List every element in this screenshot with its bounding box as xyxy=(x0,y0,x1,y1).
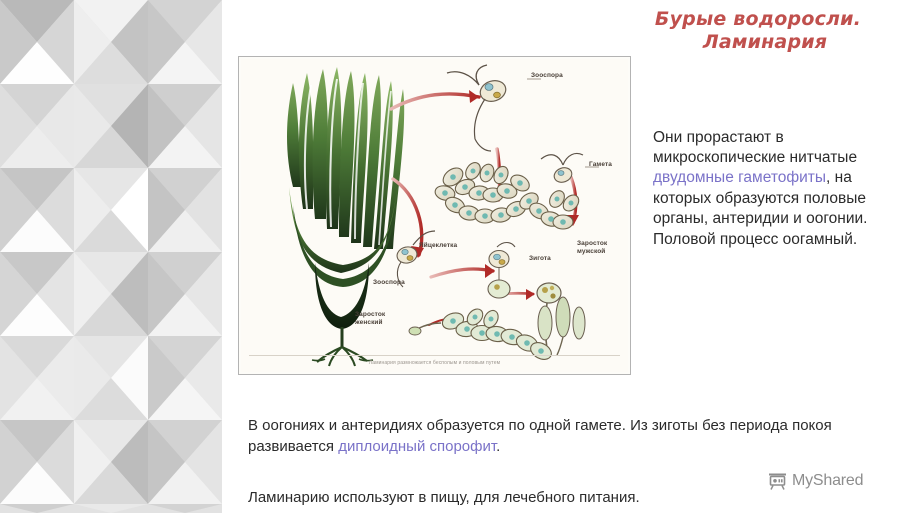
figure-label-female-gametophyte-line-1: Заросток xyxy=(355,311,385,318)
projector-icon xyxy=(768,473,787,490)
bottom-paragraph-1-highlight: диплоидный спорофит xyxy=(338,438,496,455)
figure-label-egg-cell: Яйцеклетка xyxy=(419,242,457,250)
slide-title: Бурые водоросли. Ламинария xyxy=(612,8,904,54)
figure-label-zoospore-top: Зооспора xyxy=(531,72,563,80)
figure-label-male-gametophyte-line-2: мужской xyxy=(577,248,605,255)
right-body-paragraph: Они прорастают в микроскопические нитчат… xyxy=(653,128,905,251)
figure-label-gamete: Гамета xyxy=(589,161,612,169)
right-paragraph-part-1: Они прорастают в микроскопические нитчат… xyxy=(653,129,857,166)
bottom-paragraph-1-part-2: . xyxy=(496,438,500,455)
figure-label-male-gametophyte: Заросток мужской xyxy=(577,240,607,256)
figure-caption: Ламинария размножается бесполым и половы… xyxy=(241,360,628,366)
figure-label-male-gametophyte-line-1: Заросток xyxy=(577,240,607,247)
bottom-paragraph-2: Ламинарию используют в пищу, для лечебно… xyxy=(248,487,768,508)
slide-title-line-2: Ламинария xyxy=(612,31,904,54)
myshared-watermark[interactable]: MyShared xyxy=(768,472,863,490)
figure-label-female-gametophyte-line-2: женский xyxy=(355,319,383,326)
myshared-label: MyShared xyxy=(792,472,863,490)
right-paragraph-highlight: двудомные гаметофиты xyxy=(653,169,826,186)
life-cycle-illustration xyxy=(241,59,628,372)
figure-caption-divider xyxy=(249,355,620,356)
bottom-paragraph-1-part-1: В оогониях и антеридиях образуется по од… xyxy=(248,417,832,455)
figure-label-zoospore-lower: Зооспора xyxy=(373,279,405,287)
slide-title-line-1: Бурые водоросли. xyxy=(612,8,904,31)
figure-canvas: Зооспора Гамета Заросток мужской Яйцекле… xyxy=(241,59,628,372)
figure-label-female-gametophyte: Заросток женский xyxy=(355,311,385,327)
slide-canvas: Бурые водоросли. Ламинария xyxy=(0,0,910,513)
bottom-paragraph-1: В оогониях и антеридиях образуется по од… xyxy=(248,415,868,458)
decorative-triangle-pattern xyxy=(0,0,232,513)
figure-label-zygote: Зигота xyxy=(529,255,551,263)
laminaria-life-cycle-figure: Зооспора Гамета Заросток мужской Яйцекле… xyxy=(238,56,631,375)
